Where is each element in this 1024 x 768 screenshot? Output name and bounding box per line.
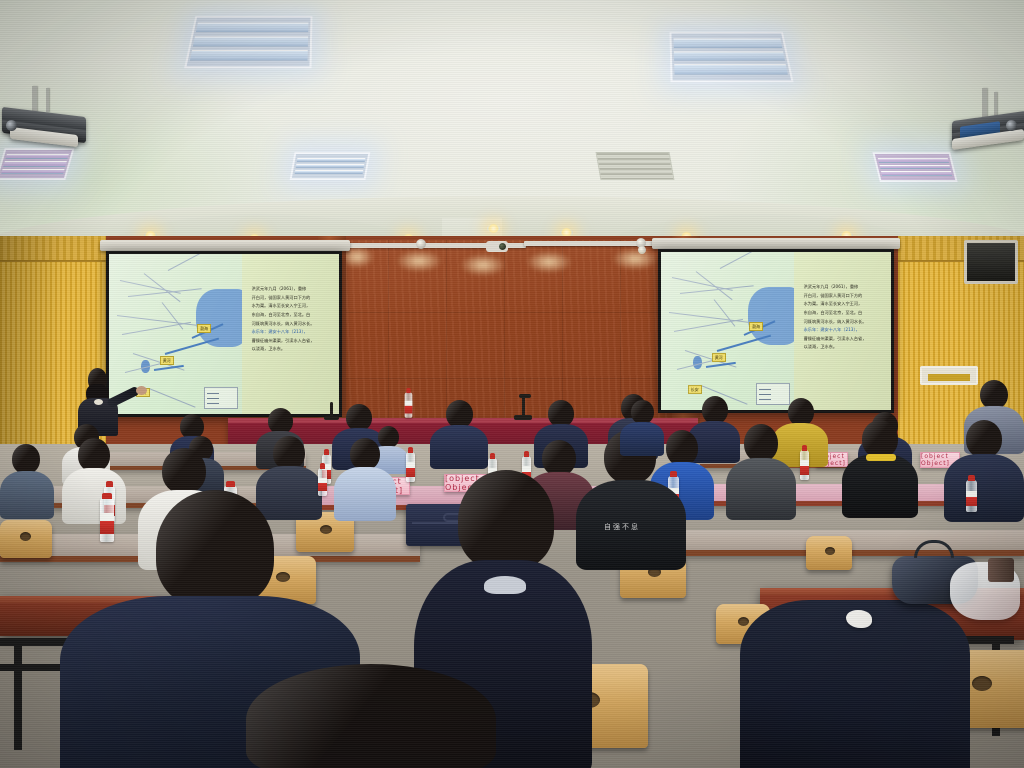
ceiling-panel-light bbox=[290, 152, 371, 180]
slide-line: 曹操征幽州渠渠，引渎水入台省， bbox=[804, 336, 878, 343]
slide-map-right: 渤海 黄河 长安 bbox=[661, 252, 794, 410]
slide-text-left: 洪武元年九月（2061），重修 开白河，徙国家人黄河口下方的 水为渠。清水至长安… bbox=[242, 254, 339, 414]
wall-speaker bbox=[964, 240, 1018, 284]
wall-spotlight-glow bbox=[396, 250, 442, 272]
map-label-bohai: 渤海 bbox=[749, 322, 763, 331]
audience-member-closest bbox=[246, 664, 496, 768]
slide-line: 洪武元年九月（2061），重修 bbox=[252, 286, 326, 293]
audience-member bbox=[620, 400, 664, 452]
slide-line: 河既筑黄河水长，纳入黄河水长。 bbox=[252, 321, 326, 328]
thermos-cup bbox=[988, 558, 1014, 582]
audience-member bbox=[430, 400, 488, 466]
slide-line: 开白河，徙国家人黄河口下方的 bbox=[804, 293, 878, 300]
slide-line: 东自海，白河至北京，至北。白 bbox=[252, 312, 326, 319]
wall-spotlight-glow bbox=[526, 251, 572, 273]
slide-line: 河既筑黄河水长，纳入黄河水长。 bbox=[804, 319, 878, 326]
wall-camera bbox=[486, 241, 508, 252]
slide-text-right: 洪武元年九月（2061），重修 开白河，徙国家人黄河口下方的 水为渠。清水至长安… bbox=[794, 252, 891, 410]
ceiling-panel-light bbox=[184, 16, 312, 68]
crumpled-tissue bbox=[846, 610, 872, 628]
slide-line: 水为渠。清水至长安入宁王河， bbox=[252, 303, 326, 310]
slide-line: 曹操征幽州渠渠，引渎水入台省， bbox=[252, 338, 326, 345]
lanyard bbox=[866, 454, 896, 461]
water-bottle bbox=[405, 392, 413, 418]
ceiling-panel-light bbox=[872, 152, 957, 182]
left-screen-valance bbox=[100, 240, 350, 251]
slide-line-highlight: 永乐年：建安十八年（213）， bbox=[252, 329, 326, 336]
map-label-huanghe: 黄河 bbox=[712, 353, 726, 362]
track-light-head bbox=[416, 239, 426, 249]
map-label-huanghe: 黄河 bbox=[160, 356, 174, 365]
audience-member bbox=[0, 444, 54, 516]
water-bottle bbox=[966, 480, 977, 512]
slide-line: 洪武元年九月（2061），重修 bbox=[804, 284, 878, 291]
chair[interactable] bbox=[0, 520, 52, 558]
map-legend bbox=[204, 387, 238, 409]
jacket-logo-text: 自强不息 bbox=[604, 522, 650, 531]
microphone-base bbox=[514, 415, 532, 420]
slide-line: 水为渠。清水至长安入宁王河， bbox=[804, 301, 878, 308]
water-bottle bbox=[800, 450, 809, 480]
desk-leg bbox=[14, 640, 22, 750]
audience-member bbox=[726, 424, 796, 516]
sea-region bbox=[748, 287, 794, 345]
right-screen-valance bbox=[652, 238, 900, 249]
left-projector bbox=[2, 86, 92, 148]
slide-line-highlight: 永乐年：建安十八年（213）， bbox=[804, 327, 878, 334]
presenter-hand bbox=[136, 386, 147, 395]
map-label-bohai: 渤海 bbox=[197, 324, 211, 333]
wall-spotlight-glow bbox=[612, 248, 658, 270]
sea-region bbox=[196, 289, 242, 347]
microphone-head bbox=[519, 394, 531, 398]
slide-line: 开白河，徙国家人黄河口下方的 bbox=[252, 295, 326, 302]
lecture-hall-photo: 渤海 黄河 长安 洪武元年九月（2061），重修 开白河，徙国家人黄河口下方的 … bbox=[0, 0, 1024, 768]
map-label-changan: 长安 bbox=[688, 385, 702, 394]
wall-spotlight-glow bbox=[460, 254, 506, 276]
audience-member bbox=[842, 420, 918, 516]
ceiling-panel-light bbox=[0, 148, 75, 180]
air-vent-grille bbox=[596, 152, 675, 180]
slide-line: 以浇溉，卫水东。 bbox=[804, 344, 878, 351]
slide-line: 东自海，白河至北京，至北。白 bbox=[804, 310, 878, 317]
slide-line: 以浇溉，卫水东。 bbox=[252, 346, 326, 353]
right-projection-screen[interactable]: 渤海 黄河 长安 洪武元年九月（2061），重修 开白河，徙国家人黄河口下方的 … bbox=[658, 249, 894, 413]
audience-member bbox=[944, 420, 1024, 520]
ceiling-downlight bbox=[487, 224, 500, 233]
right-projector bbox=[946, 88, 1024, 154]
ceiling-panel-light bbox=[669, 32, 793, 82]
